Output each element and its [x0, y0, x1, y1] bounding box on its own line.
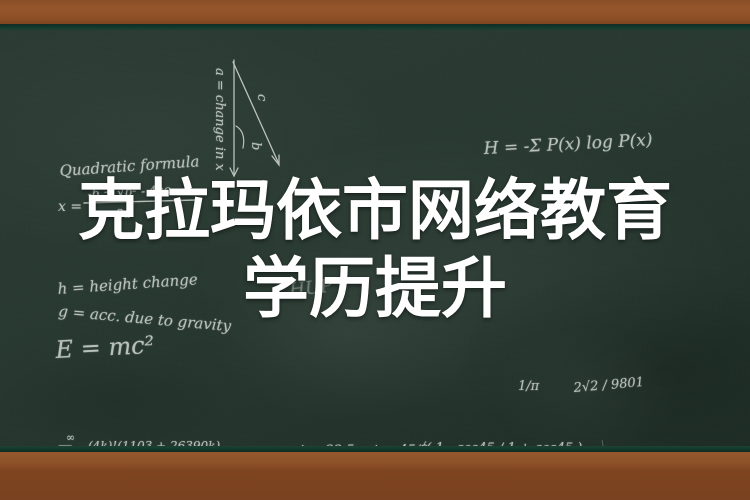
- chalk-height-change-text: h = height change: [57, 270, 198, 298]
- chalk-quadratic-label: Quadratic formula: [59, 152, 200, 180]
- chalk-mass-energy-text: E = mc²: [54, 331, 155, 364]
- chalk-hup-note: HUP: [290, 276, 360, 304]
- chalk-gravity-text: g = acc. due to gravity: [58, 302, 233, 335]
- frame-top-ledge: [0, 24, 750, 30]
- chalk-entropy-text: H = -Σ P(x) log P(x): [482, 130, 653, 159]
- chalk-triangle-diagram: a = change in x c b: [176, 56, 296, 186]
- chalk-pi-rhs: 2√2 / 9801: [572, 375, 645, 396]
- chalk-gravity-note: g = acc. due to gravity: [58, 298, 298, 326]
- chalkboard-smudge-texture: [0, 30, 750, 452]
- chalk-mass-energy-formula: E = mc²: [56, 330, 176, 370]
- chalk-hup-text: HUP: [287, 276, 334, 302]
- frame-bottom-ledge: [0, 446, 750, 452]
- chalkboard-grain-texture: [0, 30, 750, 452]
- chalk-triangle-label-b: b: [248, 142, 263, 150]
- chalk-triangle-label-a: a = change in x: [212, 68, 227, 171]
- chalkboard-surface: Quadratic formula x = -b ± √b² - 4ac 2a …: [0, 30, 750, 452]
- chalk-entropy-formula: H = -Σ P(x) log P(x): [484, 130, 694, 166]
- frame-top-wood: [0, 0, 750, 24]
- chalk-ramanujan-upper-limit: ∞: [66, 431, 75, 444]
- chalk-quadratic-numerator: -b ± √b² - 4ac: [87, 183, 171, 201]
- chalk-quadratic-x: x =: [58, 199, 82, 215]
- frame-bottom-wood: [0, 452, 750, 500]
- chalk-quadratic-denominator: 2a: [115, 207, 131, 221]
- chalk-triangle-label-c: c: [254, 94, 269, 102]
- chalk-pi-identity: 1/π 2√2 / 9801: [518, 368, 658, 418]
- chalkboard-poster: Quadratic formula x = -b ± √b² - 4ac 2a …: [0, 0, 750, 500]
- chalk-height-change-note: h = height change: [58, 276, 278, 302]
- chalk-quadratic-formula: Quadratic formula x = -b ± √b² - 4ac 2a: [58, 154, 248, 224]
- chalk-pi-lhs: 1/π: [518, 379, 540, 394]
